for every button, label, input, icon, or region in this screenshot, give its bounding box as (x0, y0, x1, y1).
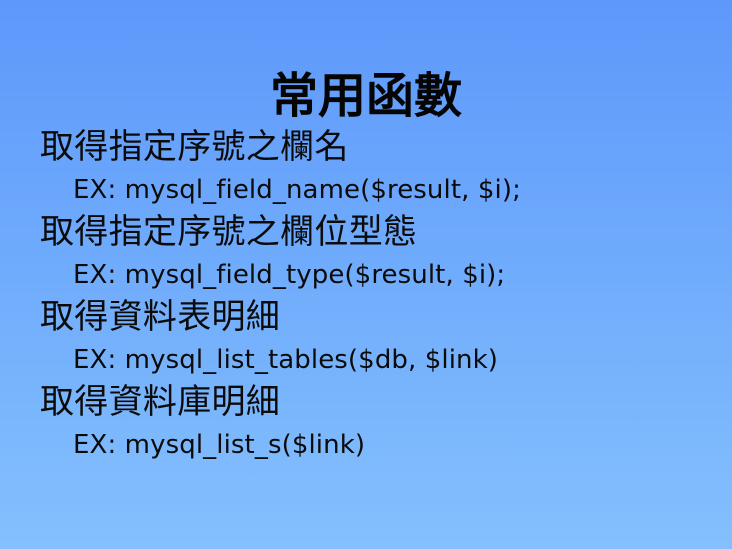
presentation-slide: 常用函數 取得指定序號之欄名 EX: mysql_field_name($res… (0, 0, 732, 549)
bullet-heading: 取得資料表明細 (40, 296, 700, 339)
bullet-item: 取得指定序號之欄名 EX: mysql_field_name($result, … (40, 126, 700, 211)
bullet-example-code: EX: mysql_list_tables($db, $link) (40, 339, 700, 381)
bullet-item: 取得指定序號之欄位型態 EX: mysql_field_type($result… (40, 211, 700, 296)
bullet-example-code: EX: mysql_field_name($result, $i); (40, 169, 700, 211)
slide-content-body: 取得指定序號之欄名 EX: mysql_field_name($result, … (40, 126, 700, 466)
bullet-example-code: EX: mysql_list_s($link) (40, 424, 700, 466)
bullet-item: 取得資料表明細 EX: mysql_list_tables($db, $link… (40, 296, 700, 381)
bullet-example-code: EX: mysql_field_type($result, $i); (40, 254, 700, 296)
bullet-heading: 取得資料庫明細 (40, 381, 700, 424)
bullet-heading: 取得指定序號之欄名 (40, 126, 700, 169)
bullet-heading: 取得指定序號之欄位型態 (40, 211, 700, 254)
page-title: 常用函數 (0, 68, 732, 124)
bullet-item: 取得資料庫明細 EX: mysql_list_s($link) (40, 381, 700, 466)
